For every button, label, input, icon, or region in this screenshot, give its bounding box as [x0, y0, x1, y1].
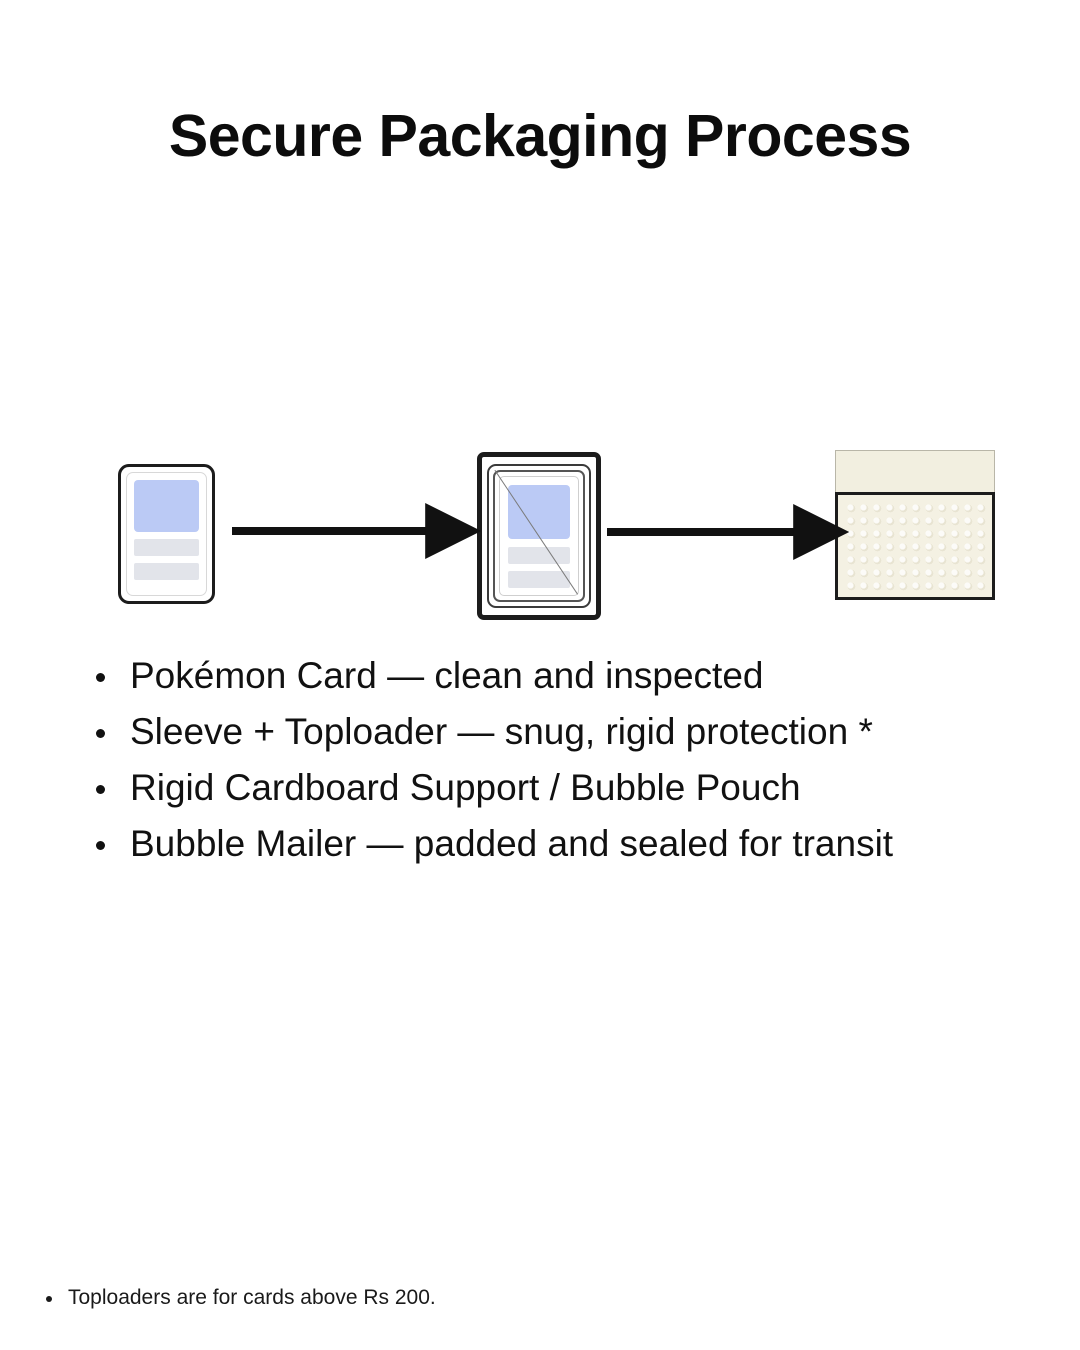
list-item: Sleeve + Toploader — snug, rigid protect… [92, 704, 1052, 760]
list-item: Pokémon Card — clean and inspected [92, 648, 1052, 704]
page-title: Secure Packaging Process [0, 104, 1080, 169]
footnote-list: Toploaders are for cards above Rs 200. [40, 1283, 940, 1313]
diagram-arrows [0, 440, 1080, 620]
packaging-process-diagram [0, 440, 1080, 620]
packaging-steps-list: Pokémon Card — clean and inspected Sleev… [92, 648, 1052, 872]
list-item: Rigid Cardboard Support / Bubble Pouch [92, 760, 1052, 816]
footnote-item: Toploaders are for cards above Rs 200. [40, 1283, 940, 1313]
list-item: Bubble Mailer — padded and sealed for tr… [92, 816, 1052, 872]
